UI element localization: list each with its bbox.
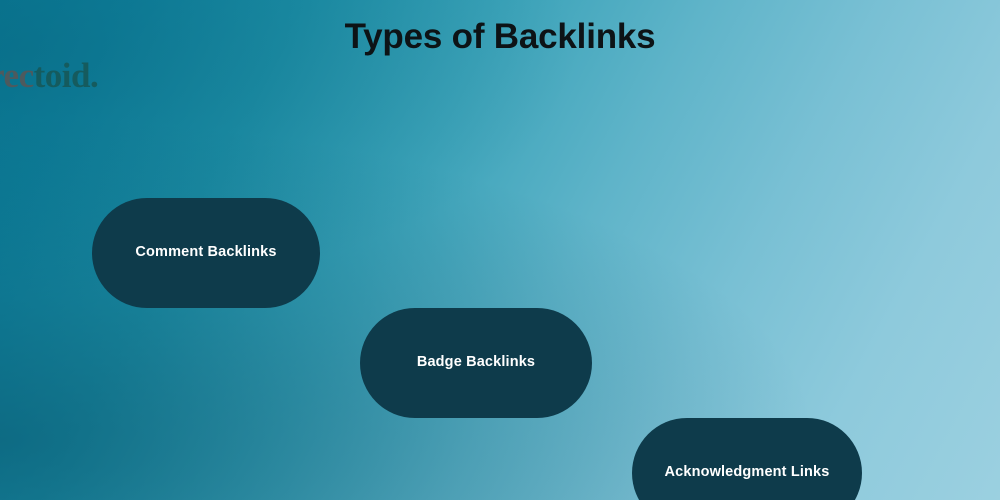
brand-logo-part-one: trec: [0, 56, 34, 95]
infographic-canvas: Types of Backlinks trectoid. Comment Bac…: [0, 0, 1000, 500]
page-title: Types of Backlinks: [0, 17, 1000, 57]
pill-label: Badge Backlinks: [417, 354, 535, 371]
pill-label: Acknowledgment Links: [665, 464, 830, 481]
brand-logo: trectoid.: [0, 56, 978, 96]
pill-label: Comment Backlinks: [135, 244, 276, 261]
pill-comment-backlinks[interactable]: Comment Backlinks: [92, 198, 320, 308]
pill-acknowledgment-links[interactable]: Acknowledgment Links: [632, 418, 862, 500]
brand-logo-part-two: toid.: [34, 56, 99, 95]
pill-badge-backlinks[interactable]: Badge Backlinks: [360, 308, 592, 418]
